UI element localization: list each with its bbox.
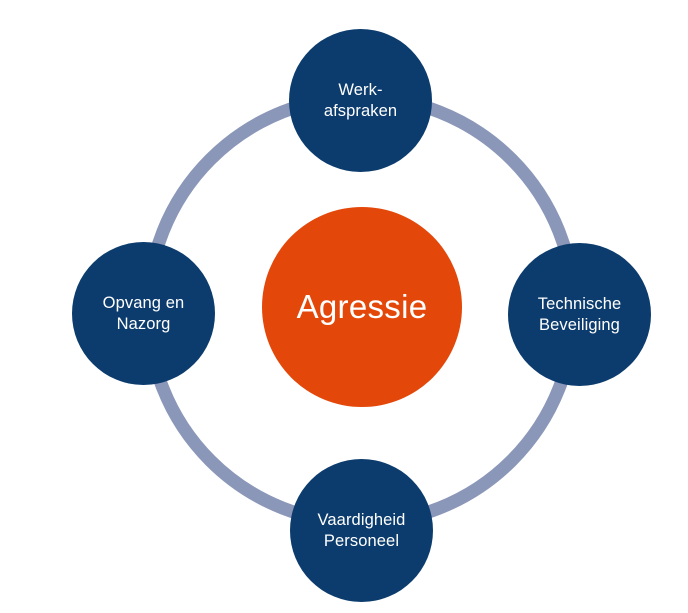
node-werkafspraken-label: Werk- afspraken <box>324 80 397 120</box>
node-vaardigheid-personeel[interactable]: Vaardigheid Personeel <box>290 459 433 602</box>
hub-label: Agressie <box>297 287 428 327</box>
cycle-diagram: Werk- afspraken Technische Beveiliging V… <box>0 0 688 613</box>
node-vaardigheid-personeel-label: Vaardigheid Personeel <box>318 510 406 550</box>
node-opvang-en-nazorg[interactable]: Opvang en Nazorg <box>72 242 215 385</box>
node-opvang-en-nazorg-label: Opvang en Nazorg <box>103 293 185 333</box>
node-werkafspraken[interactable]: Werk- afspraken <box>289 29 432 172</box>
hub-agressie[interactable]: Agressie <box>262 207 462 407</box>
node-technische-beveiliging[interactable]: Technische Beveiliging <box>508 243 651 386</box>
node-technische-beveiliging-label: Technische Beveiliging <box>538 294 622 334</box>
